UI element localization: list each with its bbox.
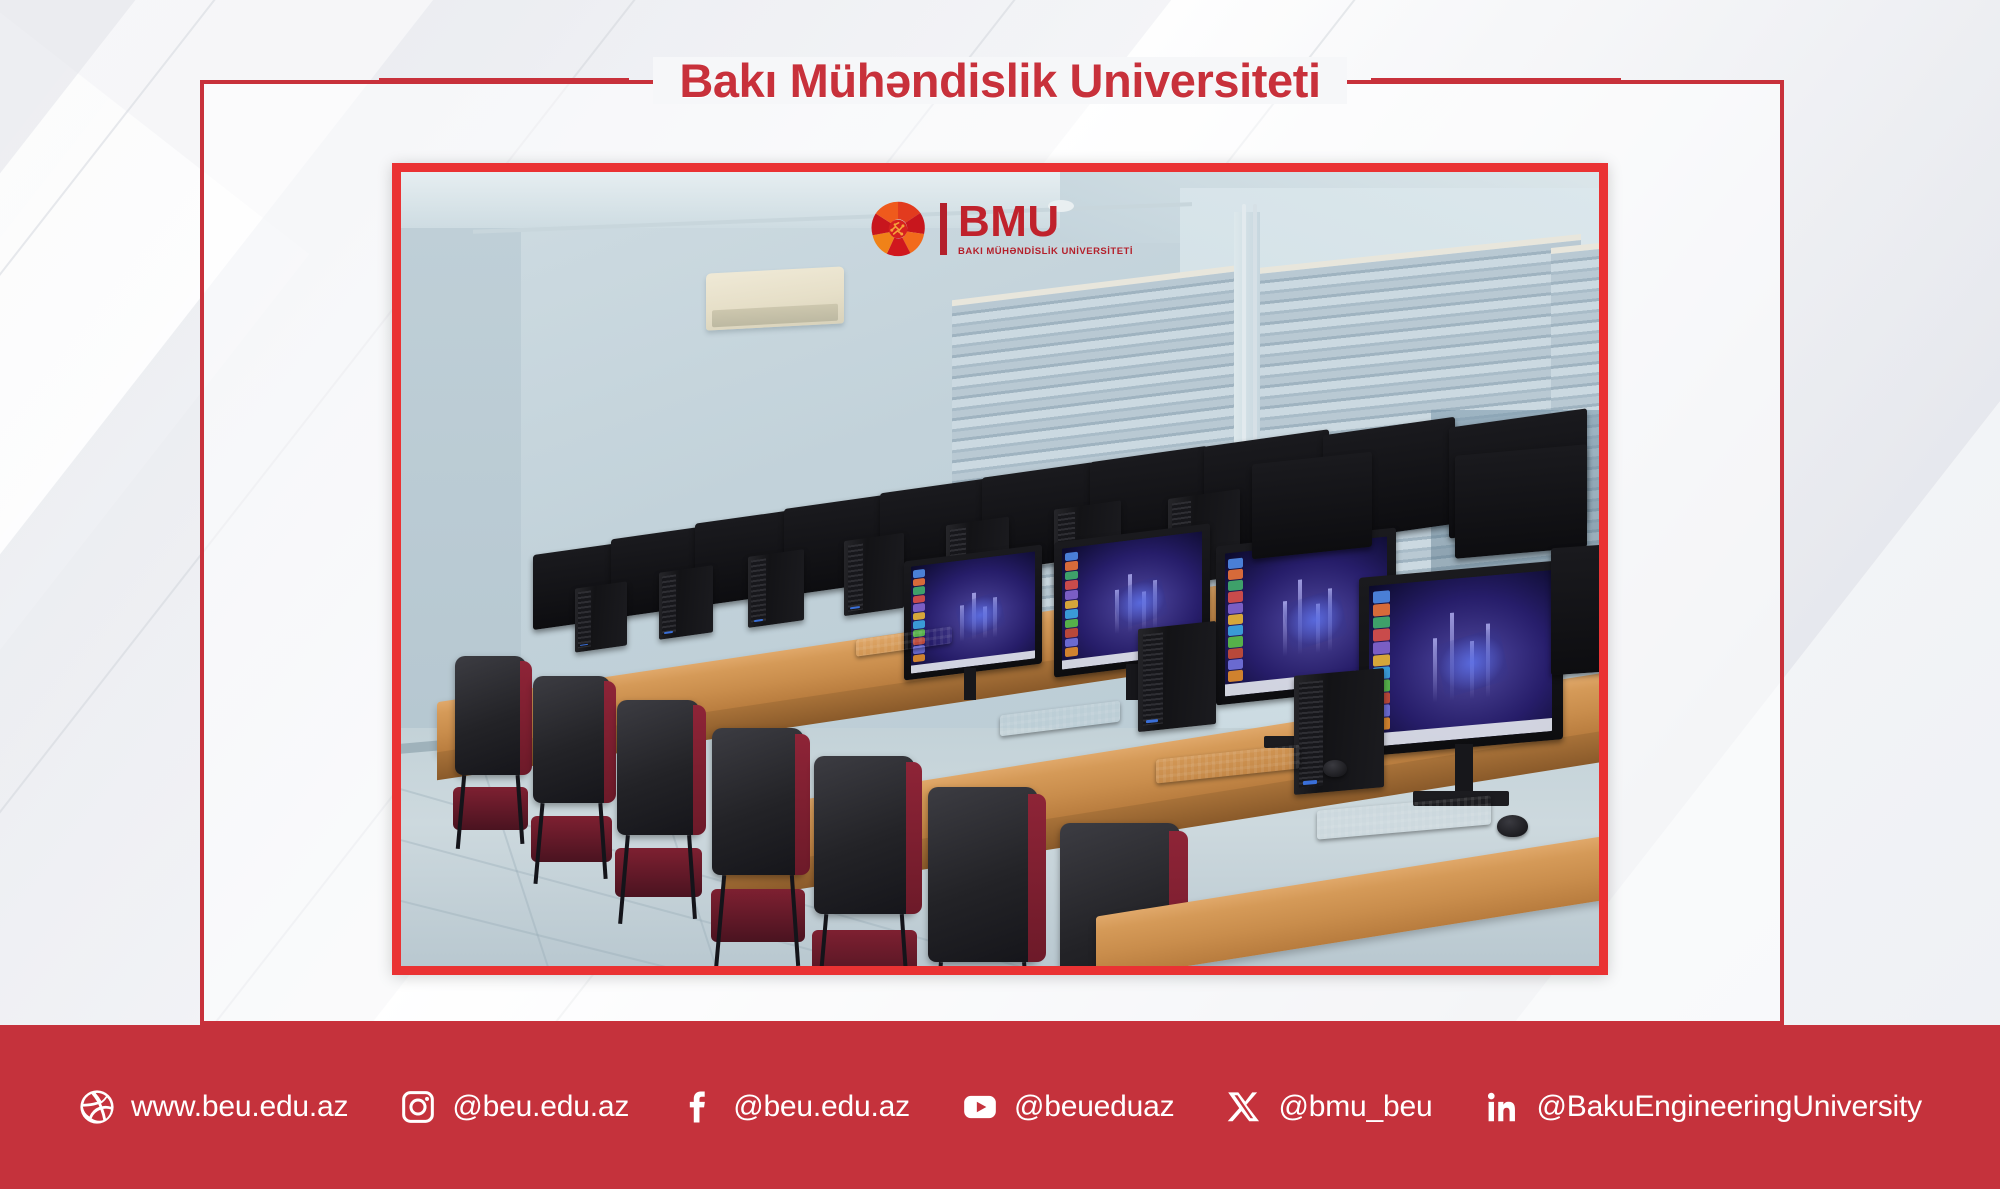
mouse — [1323, 760, 1347, 777]
monitor-stand — [1126, 664, 1139, 700]
monitor — [1252, 452, 1372, 560]
mouse — [1497, 815, 1528, 837]
air-conditioner-vent — [712, 304, 839, 328]
instagram-icon — [399, 1088, 437, 1126]
bmu-logo-divider — [940, 203, 947, 255]
youtube-icon — [961, 1088, 999, 1126]
air-conditioner — [706, 267, 844, 331]
bmu-logo-abbr: BMU — [958, 201, 1133, 243]
desktop-icons — [914, 569, 929, 663]
monitor-screen — [1370, 570, 1553, 747]
social-link-linkedin[interactable]: @BakuEngineeringUniversity — [1484, 1088, 1922, 1126]
desktop-tower — [659, 565, 713, 640]
title-rule-right — [1371, 78, 1621, 83]
chair — [928, 787, 1038, 962]
chair — [814, 756, 915, 915]
page-title: Bakı Mühəndislik Universiteti — [653, 57, 1346, 104]
desktop-icons — [1228, 557, 1247, 682]
monitor-stand — [964, 668, 976, 700]
desktop-tower — [748, 549, 804, 628]
chair — [712, 728, 803, 875]
desktop-icons — [1064, 551, 1081, 658]
bmu-logo-watermark: BMU BAKI MÜHƏNDİSLİK UNİVERSİTETİ — [867, 198, 1133, 260]
chair — [455, 656, 527, 775]
social-link-x[interactable]: @bmu_beu — [1225, 1088, 1432, 1126]
footer-bar: www.beu.edu.az @beu.edu.az @beu.edu.az @… — [0, 1025, 2000, 1189]
desktop-tower — [1138, 620, 1216, 731]
social-label: @beu.edu.az — [452, 1090, 629, 1124]
desktop-tower — [575, 581, 627, 652]
bmu-gear-icon — [867, 198, 929, 260]
desktop-tower — [844, 533, 904, 617]
title-rule-left — [379, 78, 629, 83]
chair — [617, 700, 701, 835]
social-link-website[interactable]: www.beu.edu.az — [78, 1088, 348, 1126]
computer-lab-photo: BMU BAKI MÜHƏNDİSLİK UNİVERSİTETİ — [401, 172, 1599, 966]
monitor — [904, 545, 1042, 681]
monitor — [1455, 444, 1587, 559]
photo-card: BMU BAKI MÜHƏNDİSLİK UNİVERSİTETİ — [392, 163, 1608, 975]
facebook-icon — [680, 1088, 718, 1126]
social-link-instagram[interactable]: @beu.edu.az — [399, 1088, 629, 1126]
monitor-stand — [1455, 744, 1473, 796]
social-links-list: www.beu.edu.az @beu.edu.az @beu.edu.az @… — [78, 1088, 1922, 1126]
social-label: @beu.edu.az — [733, 1090, 910, 1124]
social-label: @beueduaz — [1014, 1090, 1174, 1124]
social-link-facebook[interactable]: @beu.edu.az — [680, 1088, 910, 1126]
social-label: www.beu.edu.az — [131, 1090, 348, 1124]
dribbble-icon — [78, 1088, 116, 1126]
social-label: @BakuEngineeringUniversity — [1537, 1090, 1922, 1124]
social-link-youtube[interactable]: @beueduaz — [961, 1088, 1174, 1126]
monitor-screen — [911, 551, 1035, 673]
monitor — [1551, 542, 1599, 676]
bmu-logo-subtitle: BAKI MÜHƏNDİSLİK UNİVERSİTETİ — [958, 246, 1133, 257]
linkedin-icon — [1484, 1088, 1522, 1126]
chair — [533, 676, 611, 803]
social-label: @bmu_beu — [1278, 1090, 1432, 1124]
monitor — [1359, 560, 1563, 756]
x-twitter-icon — [1225, 1088, 1263, 1126]
header-title-band: Bakı Mühəndislik Universiteti — [0, 40, 2000, 120]
